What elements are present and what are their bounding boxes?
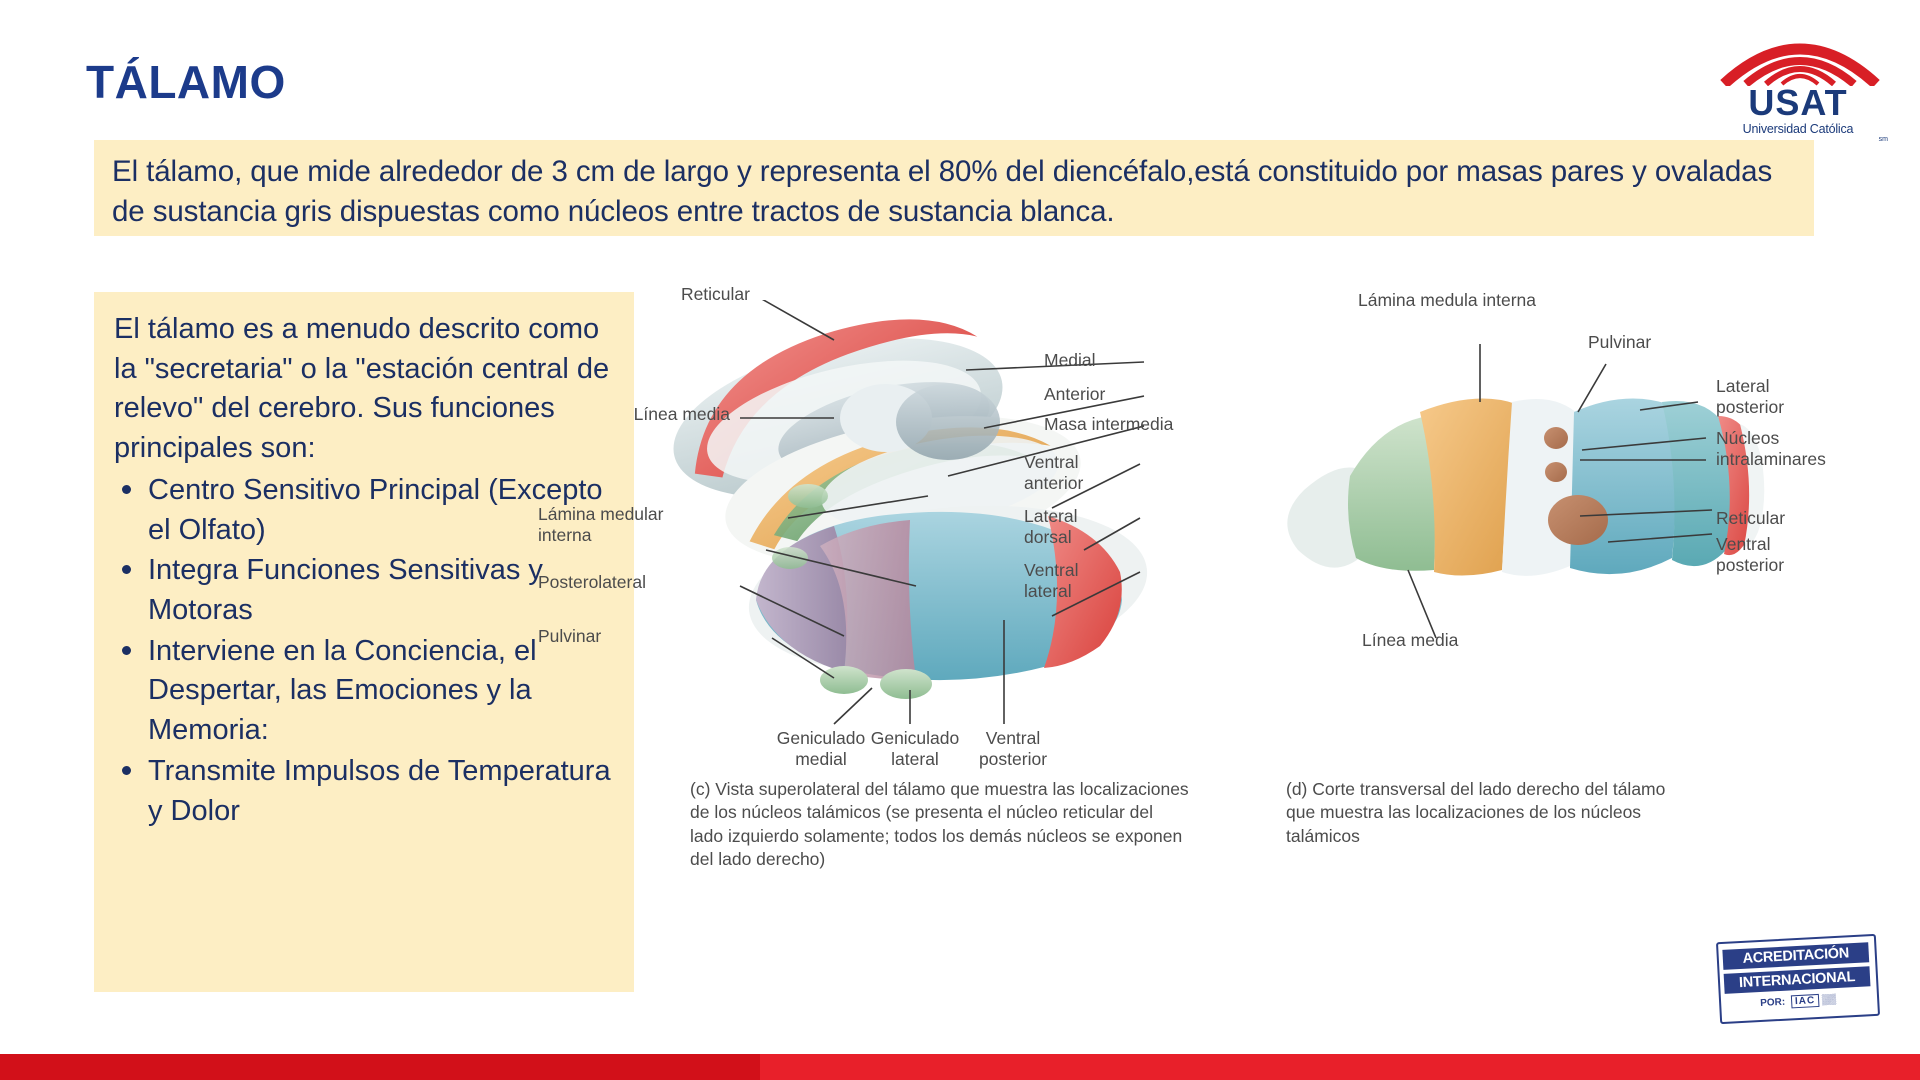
- label-ventral-lateral-c: Ventral lateral: [1024, 560, 1214, 603]
- figure-d-caption: (d) Corte transversal del lado derecho d…: [1286, 778, 1786, 848]
- label-reticular-d: Reticular: [1716, 508, 1856, 529]
- list-item-label: Integra Funciones Sensitivas y Motoras: [148, 554, 543, 626]
- bottom-accent-bar-dark-segment: [0, 1054, 760, 1080]
- usat-wordmark: USAT: [1708, 82, 1888, 124]
- side-panel-intro: El tálamo es a menudo descrito como la "…: [114, 310, 618, 469]
- bullet-icon: [122, 646, 131, 655]
- label-nucleos-intralaminares-d: Núcleos intralaminares: [1716, 428, 1866, 471]
- anatomy-figure: Reticular Línea media Lámina medular int…: [648, 300, 1838, 960]
- label-reticular-c: Reticular: [560, 284, 750, 305]
- usat-subtitle: Universidad Católica: [1708, 122, 1888, 136]
- page-title: TÁLAMO: [86, 55, 286, 109]
- header-banner-text: El tálamo, que mide alrededor de 3 cm de…: [112, 152, 1796, 231]
- list-item-label: Interviene en la Conciencia, el Desperta…: [148, 635, 537, 746]
- label-posterolateral-c: Posterolateral: [538, 572, 738, 593]
- slide-root: TÁLAMO El tálamo, que mide alrededor de …: [0, 0, 1920, 1080]
- stamp-by-label: POR:: [1760, 997, 1786, 1009]
- label-lateral-dorsal-c: Lateral dorsal: [1024, 506, 1214, 549]
- label-masa-intermedia-c: Masa intermedia: [1044, 414, 1254, 435]
- bullet-icon: [122, 766, 131, 775]
- usat-logo: USAT Universidad Católica sm: [1702, 30, 1894, 140]
- list-item: Transmite Impulsos de Temperatura y Dolo…: [114, 752, 618, 831]
- label-anterior-c: Anterior: [1044, 384, 1234, 405]
- list-item-label: Centro Sensitivo Principal (Excepto el O…: [148, 474, 603, 546]
- figure-d-drawing: [1287, 344, 1764, 638]
- accreditation-stamp: ACREDITACIÓN INTERNACIONAL POR: IAC ▒▒: [1716, 934, 1880, 1024]
- list-item-label: Transmite Impulsos de Temperatura y Dolo…: [148, 755, 611, 827]
- usat-arcs-icon: [1720, 30, 1880, 86]
- header-banner: El tálamo, que mide alrededor de 3 cm de…: [94, 140, 1814, 236]
- label-lamina-medula-interna-d: Lámina medula interna: [1358, 290, 1638, 311]
- list-item: Interviene en la Conciencia, el Desperta…: [114, 632, 618, 751]
- label-linea-media-d: Línea media: [1362, 630, 1522, 651]
- bullet-icon: [122, 485, 131, 494]
- label-geniculado-lateral-c: Geniculado lateral: [860, 728, 970, 771]
- label-ventral-posterior-d: Ventral posterior: [1716, 534, 1856, 577]
- label-ventral-posterior-c: Ventral posterior: [958, 728, 1068, 771]
- label-lamina-medular-interna-c: Lámina medular interna: [538, 504, 738, 547]
- label-linea-media-c: Línea media: [540, 404, 730, 425]
- figure-c-caption: (c) Vista superolateral del tálamo que m…: [690, 778, 1290, 871]
- bullet-icon: [122, 565, 131, 574]
- usat-tiny-mark: sm: [1879, 136, 1888, 143]
- label-pulvinar-c: Pulvinar: [538, 626, 738, 647]
- bottom-accent-bar: [0, 1054, 1920, 1080]
- label-medial-c: Medial: [1044, 350, 1234, 371]
- stamp-agency-suffix: ▒▒: [1822, 994, 1837, 1006]
- label-ventral-anterior-c: Ventral anterior: [1024, 452, 1214, 495]
- label-pulvinar-d: Pulvinar: [1588, 332, 1748, 353]
- label-lateral-posterior-d: Lateral posterior: [1716, 376, 1856, 419]
- stamp-agency: IAC: [1791, 994, 1820, 1008]
